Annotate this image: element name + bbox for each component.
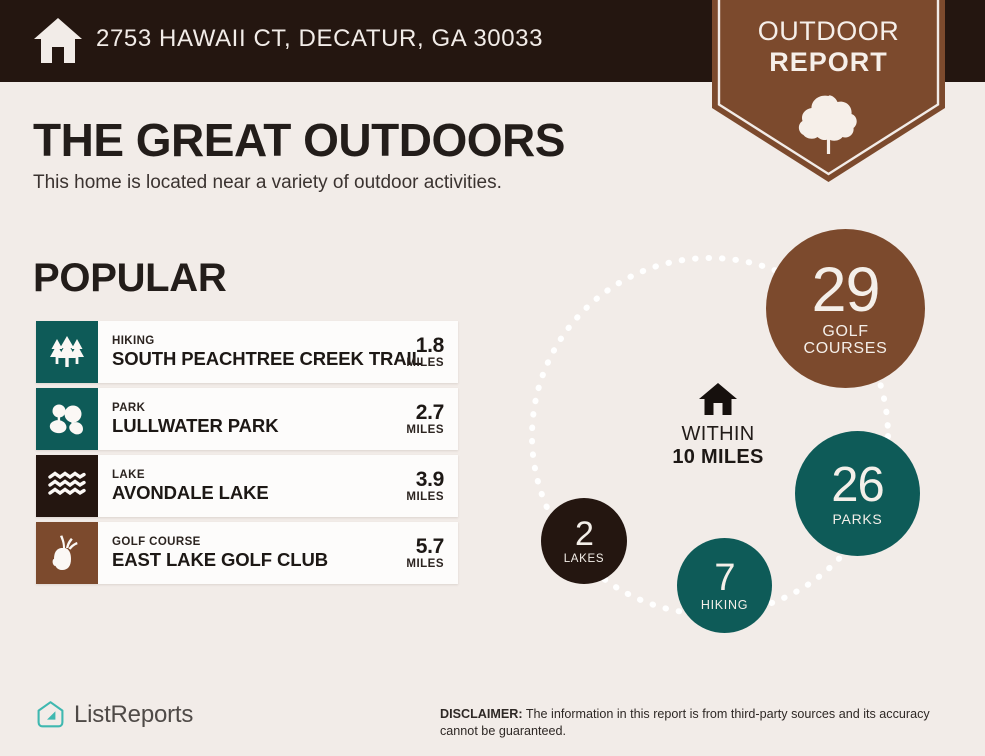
list-item-body: HIKING SOUTH PEACHTREE CREEK TRAIL 1.8 M… [98, 321, 458, 383]
page-subtitle: This home is located near a variety of o… [33, 172, 502, 194]
distance-unit: MILES [390, 356, 444, 370]
outdoor-report-infographic: 2753 HAWAII CT, DECATUR, GA 30033 OUTDOO… [0, 0, 985, 756]
bubble-label-line1: GOLF [803, 324, 887, 341]
badge-title: OUTDOOR REPORT [712, 16, 945, 78]
list-item-name: LULLWATER PARK [112, 415, 390, 437]
list-item[interactable]: LAKE AVONDALE LAKE 3.9 MILES [36, 455, 458, 517]
list-item-body: GOLF COURSE EAST LAKE GOLF CLUB 5.7 MILE… [98, 522, 458, 584]
bubble-lakes[interactable]: 2 LAKES [541, 498, 627, 584]
page-title: THE GREAT OUTDOORS [33, 113, 565, 167]
list-item-distance: 3.9 MILES [390, 469, 450, 504]
badge-line-1: OUTDOOR [712, 16, 945, 47]
popular-heading: POPULAR [33, 256, 226, 301]
list-item[interactable]: PARK LULLWATER PARK 2.7 MILES [36, 388, 458, 450]
list-item-name: AVONDALE LAKE [112, 482, 390, 504]
bubble-label: PARKS [833, 512, 883, 527]
listreports-logo[interactable]: ListReports [36, 700, 193, 729]
distance-unit: MILES [390, 557, 444, 571]
golf-bag-icon [36, 522, 98, 584]
logo-text: ListReports [74, 701, 193, 729]
list-item-category: GOLF COURSE [112, 535, 390, 549]
list-item-category: LAKE [112, 468, 390, 482]
list-item[interactable]: GOLF COURSE EAST LAKE GOLF CLUB 5.7 MILE… [36, 522, 458, 584]
bubble-golf-courses[interactable]: 29 GOLF COURSES [766, 229, 925, 388]
list-item-category: HIKING [112, 334, 390, 348]
bubble-value: 29 [811, 259, 879, 322]
list-item[interactable]: HIKING SOUTH PEACHTREE CREEK TRAIL 1.8 M… [36, 321, 458, 383]
distance-value: 3.9 [390, 469, 444, 490]
nearby-amenities-bubble-chart: 29 GOLF COURSES 26 PARKS 7 HIKING 2 LAKE… [518, 218, 958, 648]
center-line-1: WITHIN [643, 423, 793, 446]
bubble-label: HIKING [701, 599, 748, 612]
list-item-distance: 2.7 MILES [390, 402, 450, 437]
badge-line-2: REPORT [712, 47, 945, 78]
disclaimer: DISCLAIMER: The information in this repo… [440, 706, 960, 740]
distance-unit: MILES [390, 423, 444, 437]
bubble-value: 26 [831, 461, 884, 510]
distance-value: 2.7 [390, 402, 444, 423]
distance-value: 1.8 [390, 335, 444, 356]
distance-value: 5.7 [390, 536, 444, 557]
list-item-category: PARK [112, 401, 390, 415]
bubble-label: GOLF COURSES [803, 324, 887, 358]
outdoor-report-badge: OUTDOOR REPORT [712, 0, 945, 182]
cluster-center-label: WITHIN 10 MILES [643, 382, 793, 469]
bubble-label: LAKES [564, 553, 605, 565]
list-item-distance: 5.7 MILES [390, 536, 450, 571]
bubble-value: 2 [575, 517, 593, 551]
park-trees-icon [36, 388, 98, 450]
water-waves-icon [36, 455, 98, 517]
property-address: 2753 HAWAII CT, DECATUR, GA 30033 [96, 25, 543, 53]
center-line-2: 10 MILES [643, 446, 793, 469]
list-item-name: EAST LAKE GOLF CLUB [112, 549, 390, 571]
bubble-label-line2: COURSES [803, 341, 887, 358]
popular-list: HIKING SOUTH PEACHTREE CREEK TRAIL 1.8 M… [36, 321, 458, 589]
list-item-body: PARK LULLWATER PARK 2.7 MILES [98, 388, 458, 450]
bubble-parks[interactable]: 26 PARKS [795, 431, 920, 556]
house-icon [32, 16, 84, 66]
listreports-house-logo-icon [36, 700, 65, 729]
bubble-value: 7 [714, 559, 734, 597]
house-icon [698, 382, 738, 417]
disclaimer-label: DISCLAIMER: [440, 707, 523, 721]
list-item-body: LAKE AVONDALE LAKE 3.9 MILES [98, 455, 458, 517]
list-item-distance: 1.8 MILES [390, 335, 450, 370]
list-item-name: SOUTH PEACHTREE CREEK TRAIL [112, 348, 390, 370]
bubble-hiking[interactable]: 7 HIKING [677, 538, 772, 633]
pine-trees-icon [36, 321, 98, 383]
distance-unit: MILES [390, 490, 444, 504]
